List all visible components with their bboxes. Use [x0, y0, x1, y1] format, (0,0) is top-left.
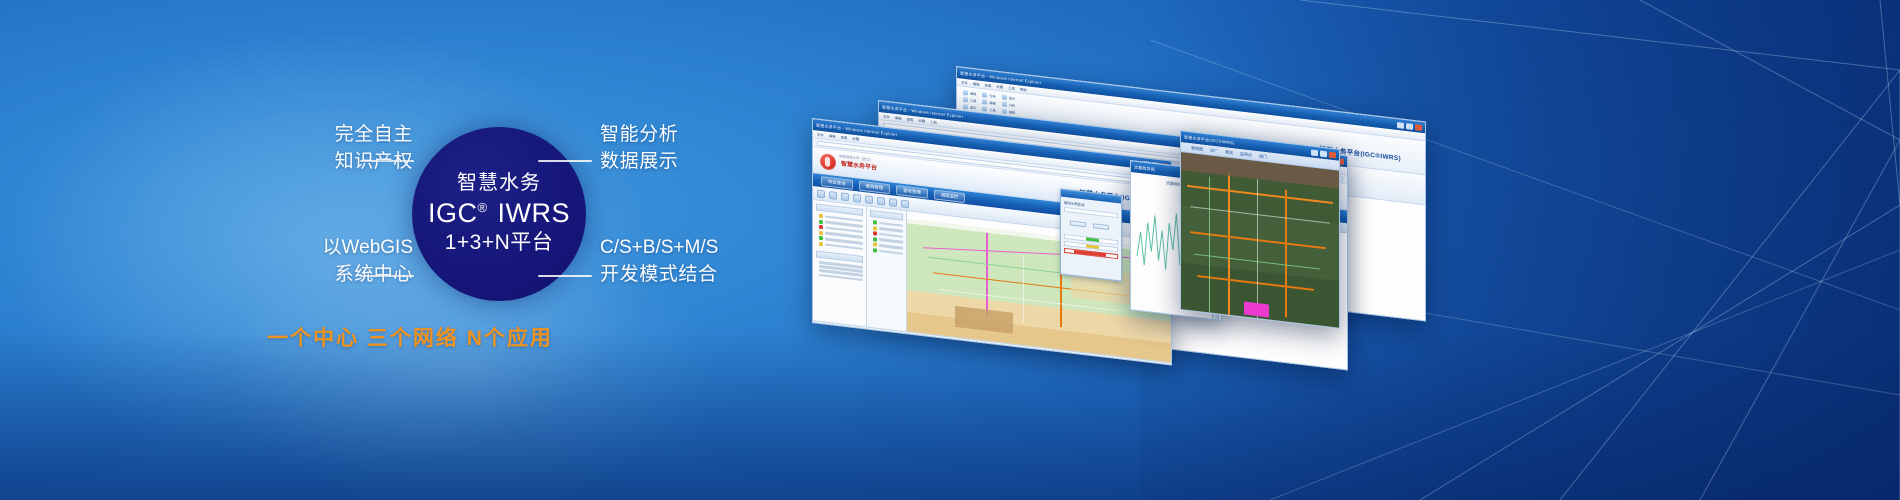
- legend-label-4[interactable]: 阀门: [1259, 153, 1267, 160]
- menu-item-1[interactable]: 编辑: [895, 115, 902, 121]
- menu-item-3[interactable]: 收藏: [996, 84, 1003, 90]
- dialog-export-button[interactable]: [1093, 223, 1109, 230]
- menu-item-3[interactable]: 收藏: [852, 136, 859, 142]
- banner-stage: 智慧水务 IGC®IWRS 1+3+N平台 完全自主 知识产权 智能分析 数据展…: [0, 0, 1900, 500]
- ribbon-icon[interactable]: [982, 92, 987, 98]
- layer-swatch: [819, 231, 823, 235]
- tagline: 一个中心 三个网络 N个应用: [0, 322, 820, 352]
- dialog-query-button[interactable]: [1070, 220, 1086, 227]
- feature-bottom-left-line1: 以WebGIS: [291, 235, 413, 262]
- feature-label-bottom-left: 以WebGIS 系统中心: [291, 235, 413, 289]
- print-icon[interactable]: [889, 198, 897, 207]
- menu-item-4[interactable]: 工具: [930, 119, 937, 125]
- map-window-controls[interactable]: [1311, 149, 1336, 158]
- feature-top-left-line2: 知识产权: [303, 149, 413, 176]
- zoom-out-icon[interactable]: [841, 192, 849, 201]
- ribbon-icon[interactable]: [1002, 94, 1007, 100]
- feature-top-right-line2: 数据展示: [600, 149, 678, 176]
- layer-swatch: [819, 225, 823, 229]
- ribbon-icon[interactable]: [982, 106, 987, 112]
- feature-label-top-left: 完全自主 知识产权: [303, 122, 413, 176]
- concept-diagram: 智慧水务 IGC®IWRS 1+3+N平台 完全自主 知识产权 智能分析 数据展…: [0, 0, 820, 500]
- layer-swatch: [819, 219, 823, 223]
- ribbon-label: 编辑: [989, 100, 995, 106]
- layer-swatch: [819, 242, 823, 246]
- water-drop-logo-icon: [820, 152, 836, 170]
- legend-panel[interactable]: [867, 206, 907, 331]
- ribbon-icon[interactable]: [963, 97, 968, 103]
- menu-item-1[interactable]: 编辑: [829, 133, 836, 139]
- ribbon-label: 编辑: [1009, 109, 1015, 115]
- connector-bottom-right: [538, 275, 592, 277]
- menu-item-1[interactable]: 编辑: [973, 81, 980, 87]
- legend-header: [870, 210, 903, 221]
- hub-line-1: 智慧水务: [457, 172, 541, 195]
- ribbon-icon[interactable]: [963, 90, 968, 96]
- select-icon[interactable]: [853, 193, 861, 202]
- identify-icon[interactable]: [877, 196, 885, 205]
- chart-window-title: 流量趋势图: [1134, 164, 1155, 172]
- window-controls-back[interactable]: [1397, 122, 1422, 131]
- menu-item-0[interactable]: 文件: [883, 114, 890, 120]
- measure-icon[interactable]: [865, 195, 873, 204]
- legend-label-0[interactable]: 管网图: [1191, 145, 1203, 152]
- water-quality-dialog[interactable]: 管网水质监测: [1060, 188, 1122, 281]
- legend-label-2[interactable]: 泵站: [1225, 149, 1233, 156]
- ribbon-label: 显示: [1009, 95, 1015, 101]
- ribbon-icon[interactable]: [982, 99, 987, 105]
- menu-item-0[interactable]: 文件: [817, 132, 824, 138]
- ribbon-label: 分析: [1009, 102, 1015, 108]
- ribbon-icon[interactable]: [1002, 108, 1007, 114]
- legend-label-1[interactable]: 水厂: [1210, 147, 1218, 154]
- layer-icon[interactable]: [901, 199, 909, 208]
- ribbon-label: 分析: [989, 93, 995, 99]
- layer-swatch: [819, 214, 823, 218]
- ribbon-label: 显示: [970, 105, 976, 111]
- feature-bottom-left-line2: 系统中心: [291, 262, 413, 289]
- menu-item-4[interactable]: 工具: [1008, 85, 1015, 91]
- hub-brand: IGC: [428, 198, 478, 228]
- menu-item-2[interactable]: 查看: [907, 116, 914, 122]
- screenshot-stack: 智慧水务平台 - Windows Internet Explorer 文件 编辑…: [760, 0, 1900, 500]
- menu-item-2[interactable]: 查看: [985, 82, 992, 88]
- ribbon-label: 工具: [989, 107, 995, 113]
- feature-bottom-right-line2: 开发模式结合: [600, 262, 718, 289]
- registered-mark: ®: [477, 200, 487, 215]
- ribbon-icon[interactable]: [1002, 101, 1007, 107]
- hub-product-line: IGC®IWRS: [428, 199, 570, 229]
- ribbon-label: 工具: [970, 98, 976, 104]
- feature-top-left-line1: 完全自主: [303, 122, 413, 149]
- dialog-body: 管网水质监测: [1061, 196, 1121, 264]
- layer-swatch: [819, 236, 823, 240]
- menu-item-2[interactable]: 查看: [841, 134, 848, 140]
- legend-label-3[interactable]: 监测点: [1240, 151, 1252, 158]
- satellite-map-window[interactable]: 智慧水务平台(IGC®IWRS) 管网图 水厂 泵站 监测点 阀门: [1180, 130, 1340, 329]
- feature-label-top-right: 智能分析 数据展示: [600, 122, 678, 176]
- feature-label-bottom-right: C/S+B/S+M/S 开发模式结合: [600, 235, 718, 289]
- feature-bottom-right-line1: C/S+B/S+M/S: [600, 235, 718, 262]
- satellite-map-canvas[interactable]: [1181, 152, 1339, 329]
- connector-top-right: [538, 160, 592, 162]
- feature-top-right-line1: 智能分析: [600, 122, 678, 149]
- ribbon-icon[interactable]: [963, 104, 968, 110]
- pan-icon[interactable]: [817, 189, 825, 198]
- zoom-in-icon[interactable]: [829, 191, 837, 200]
- menu-item-0[interactable]: 文件: [961, 80, 968, 86]
- ribbon-label: 编辑: [970, 91, 976, 97]
- menu-item-3[interactable]: 收藏: [918, 118, 925, 124]
- layer-tree-panel[interactable]: [813, 200, 867, 326]
- hub-product: IWRS: [498, 198, 571, 228]
- hub-line-3: 1+3+N平台: [445, 230, 554, 256]
- menu-item-5[interactable]: 帮助: [1020, 87, 1027, 93]
